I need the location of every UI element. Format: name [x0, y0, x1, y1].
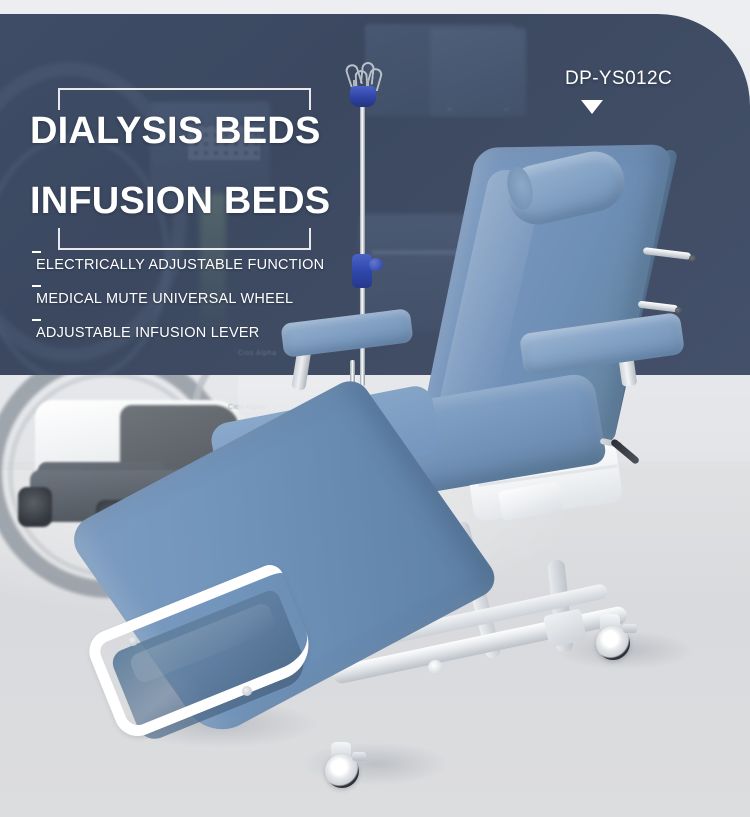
iv-pole-collar	[350, 86, 376, 107]
dash-bullet-icon	[32, 319, 41, 321]
feature-label: ADJUSTABLE INFUSION LEVER	[36, 325, 260, 341]
iv-clamp-knob	[369, 258, 383, 271]
feature-item: MEDICAL MUTE UNIVERSAL WHEEL	[32, 290, 324, 312]
caster-brake-lock	[623, 624, 637, 633]
model-code-label: DP-YS012C	[565, 68, 672, 90]
feature-list: ELECTRICALLY ADJUSTABLE FUNCTION MEDICAL…	[32, 256, 324, 358]
feature-label: ELECTRICALLY ADJUSTABLE FUNCTION	[36, 257, 324, 273]
caster-brake-lock	[352, 752, 366, 761]
footrest-hinge	[128, 636, 138, 646]
dash-bullet-icon	[32, 285, 41, 287]
caster-shadow	[300, 742, 450, 786]
feature-item: ADJUSTABLE INFUSION LEVER	[32, 324, 324, 346]
dash-bullet-icon	[32, 251, 41, 253]
headline-secondary: INFUSION BEDS	[30, 182, 330, 220]
bracket-bottom-decoration	[58, 228, 311, 250]
footrest-hinge	[242, 686, 252, 696]
feature-label: MEDICAL MUTE UNIVERSAL WHEEL	[36, 291, 293, 307]
rod-end-cap	[675, 307, 682, 314]
triangle-down-icon	[581, 100, 603, 114]
feature-item: ELECTRICALLY ADJUSTABLE FUNCTION	[32, 256, 324, 278]
headline-primary: DIALYSIS BEDS	[30, 112, 321, 150]
bracket-top-decoration	[58, 88, 311, 110]
base-adjustment-knob	[428, 660, 443, 675]
iv-pole-clamp	[352, 254, 372, 288]
rod-end-cap	[689, 255, 696, 262]
product-banner: Cios Alpha Cios Alpha DIALYSIS BEDS INFU…	[0, 0, 750, 817]
backrest-support-rod	[638, 301, 679, 313]
